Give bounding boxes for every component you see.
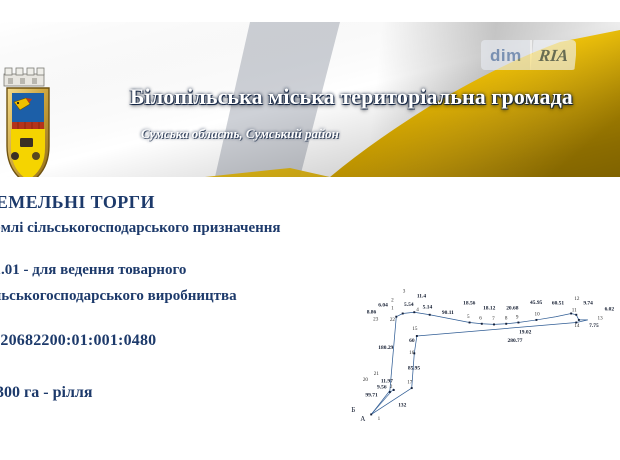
plan-point-index: 9	[516, 315, 519, 321]
banner-title: Білопільська міська територіальна громад…	[130, 84, 620, 110]
watermark-dim-label: dim	[481, 40, 530, 70]
plan-point-index: 2	[390, 384, 393, 390]
crown-icon	[4, 68, 44, 86]
plan-point-index: 10	[535, 311, 541, 317]
plan-dimension-label: 6.02	[605, 306, 615, 312]
page-root: Білопільська міська територіальна громад…	[0, 0, 620, 460]
plan-dimension-label: 5.54	[404, 302, 414, 308]
land-area: 3300 га - рілля	[0, 384, 93, 402]
plan-dimension-label: 90.11	[442, 310, 454, 316]
cadastral-number: 5920682200:01:001:0480	[0, 332, 156, 350]
plan-dimension-label: 7.75	[589, 323, 599, 329]
plan-dimension-label: 99.71	[365, 392, 378, 398]
plan-point-index: 17	[407, 380, 413, 386]
plan-dimension-label: 18.12	[483, 306, 496, 312]
listing-subtitle: Землі сільськогосподарського призначення	[0, 220, 281, 237]
plan-dimension-label: 60.51	[552, 301, 565, 307]
corner-label-a: A	[360, 415, 366, 423]
plan-dimension-label: 6.04	[378, 302, 388, 308]
corner-label-b: Б	[351, 406, 355, 414]
plan-dimension-label: 20.68	[506, 306, 519, 312]
plan-dimension-label: 9.74	[583, 301, 593, 307]
plan-dimension-label: 8.86	[367, 310, 377, 316]
plan-dimension-label: 18.56	[463, 301, 476, 307]
plan-point-index: 1	[378, 416, 381, 422]
banner-subtitle: Сумська область, Сумський район	[141, 126, 581, 142]
plan-dimension-label: 85.95	[408, 365, 421, 371]
parcel-boundary	[371, 312, 588, 414]
plan-point-index: 15	[412, 326, 418, 332]
plan-point-index: 23	[373, 317, 379, 323]
dim-ria-watermark: dim RIA	[481, 40, 576, 70]
plan-point-index: 11	[572, 308, 577, 314]
plan-point-index: 21	[374, 371, 380, 377]
plan-point-index: 12	[574, 296, 580, 302]
plan-point-index: 20	[363, 377, 369, 383]
plan-dimension-label: 9.56	[377, 385, 387, 391]
plan-point-index: 6	[479, 315, 482, 321]
plan-dimension-label: 60	[409, 338, 415, 344]
watermark-ria-label: RIA	[530, 40, 576, 70]
plan-point-index: 8	[505, 315, 508, 321]
plan-dimension-label: 19.02	[519, 329, 532, 335]
plan-dimension-label: 45.95	[530, 300, 543, 306]
site-banner: Білопільська міська територіальна громад…	[0, 22, 620, 177]
coat-of-arms	[2, 66, 54, 177]
land-use-line-2: сільськогосподарського виробництва	[0, 288, 237, 305]
plan-svg: Б A 311.426.045.545.14418.8690.1118.5618…	[350, 248, 620, 460]
parcel-vertices	[370, 311, 580, 415]
plan-dimension-label: 11.97	[381, 378, 393, 384]
listing-title: ЗЕМЕЛЬНІ ТОРГИ	[0, 192, 155, 213]
plan-point-index: 3	[403, 288, 406, 294]
plan-point-index: 5	[467, 314, 470, 320]
plan-dimension-label: 280.77	[508, 338, 523, 344]
plan-point-index: 16	[409, 350, 415, 356]
plan-point-index: 4	[416, 307, 419, 313]
plan-dimension-label: 5.14	[423, 304, 433, 310]
land-use-line-1: 01.01 - для ведення товарного	[0, 262, 186, 279]
plan-point-index: 7	[492, 316, 495, 322]
plan-point-index: 13	[598, 315, 604, 321]
plan-dimension-labels: 311.426.045.545.14418.8690.1118.5618.122…	[363, 288, 615, 422]
plan-point-index: 1	[391, 306, 394, 312]
cadastral-plan-diagram: Б A 311.426.045.545.14418.8690.1118.5618…	[350, 248, 620, 460]
plan-point-index: 22	[390, 317, 396, 323]
plan-dimension-label: 180.29	[378, 345, 393, 351]
plan-point-index: 2	[391, 297, 394, 303]
plan-dimension-label: 132	[398, 403, 406, 409]
plan-dimension-label: 11.4	[417, 293, 427, 299]
plan-point-index: 14	[574, 323, 580, 329]
